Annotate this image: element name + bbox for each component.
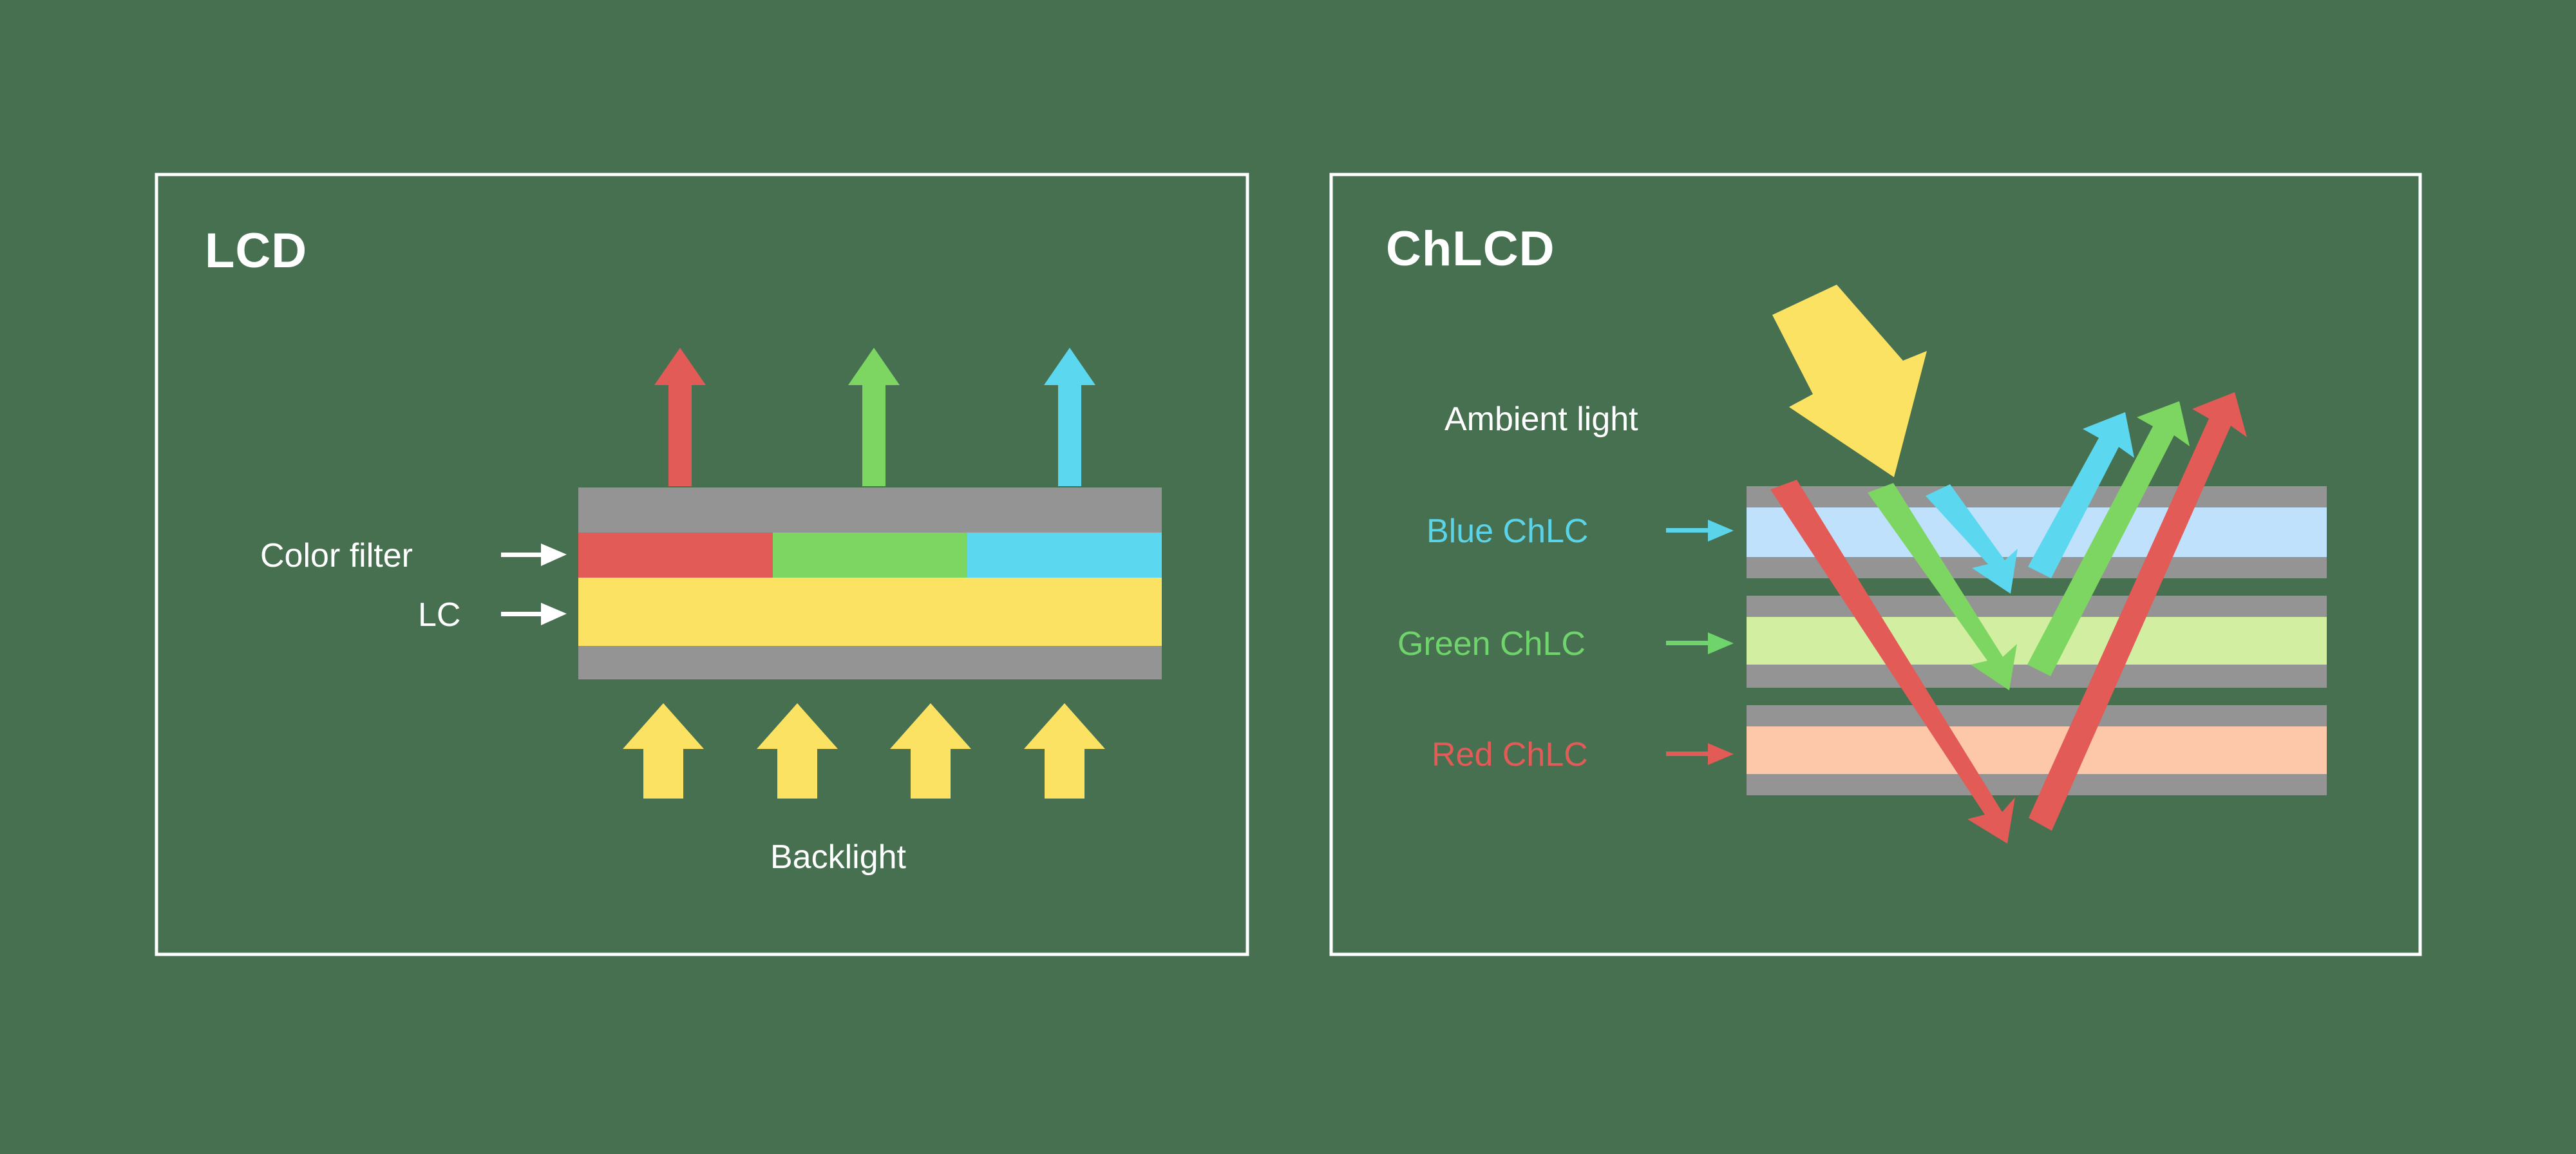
red-chlc-layer xyxy=(1747,726,2327,774)
lcd-panel-title: LCD xyxy=(205,223,307,278)
lcd-backlight-label: Backlight xyxy=(770,838,907,876)
blue-chlc-label: Blue ChLC xyxy=(1426,513,1588,550)
chlcd-panel-title: ChLCD xyxy=(1386,222,1555,276)
lcd-color-filter-green xyxy=(773,533,967,578)
red-cell-bottom-electrode xyxy=(1747,774,2327,795)
lcd-liquid-crystal-layer xyxy=(578,578,1162,646)
lcd-layer-stack xyxy=(578,487,1162,679)
red-chlc-label: Red ChLC xyxy=(1432,736,1588,773)
lcd-color-filter-blue xyxy=(967,533,1162,578)
ambient-light-label: Ambient light xyxy=(1444,401,1638,438)
lcd-color-filter-label: Color filter xyxy=(260,537,413,574)
red-cell-top-electrode xyxy=(1747,705,2327,726)
lcd-color-filter-red xyxy=(578,533,773,578)
green-cell-top-electrode xyxy=(1747,596,2327,617)
lcd-top-electrode xyxy=(578,487,1162,533)
diagram-canvas: LCD Color filter LC xyxy=(0,0,2576,1154)
chlcd-layer-stack xyxy=(1747,486,2327,795)
blue-cell-top-electrode xyxy=(1747,486,2327,507)
lcd-lc-label: LC xyxy=(418,596,460,634)
green-chlc-label: Green ChLC xyxy=(1397,625,1586,663)
lcd-bottom-electrode xyxy=(578,646,1162,679)
